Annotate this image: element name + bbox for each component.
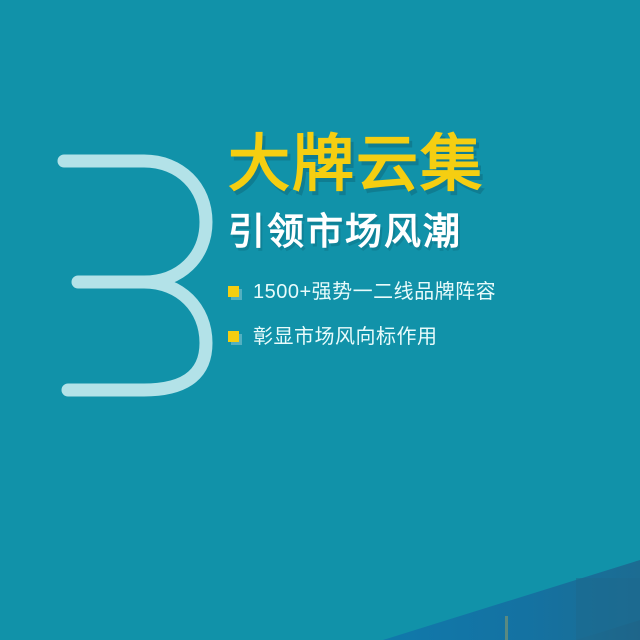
list-item: 1500+强势一二线品牌阵容 <box>228 280 628 304</box>
square-bullet-icon <box>228 331 239 342</box>
numeral-three-glyph <box>48 138 228 408</box>
list-item: 彰显市场风向标作用 <box>228 325 628 349</box>
feature-bullet-list: 1500+强势一二线品牌阵容 彰显市场风向标作用 <box>228 280 628 349</box>
text-column: 大牌云集 引领市场风潮 1500+强势一二线品牌阵容 彰显市场风向标作用 <box>228 132 628 370</box>
square-bullet-icon <box>228 286 239 297</box>
bullet-label: 1500+强势一二线品牌阵容 <box>253 280 496 304</box>
bullet-label: 彰显市场风向标作用 <box>253 325 438 349</box>
headline: 大牌云集 <box>228 132 628 199</box>
promo-poster: 大牌云集 引领市场风潮 1500+强势一二线品牌阵容 彰显市场风向标作用 <box>0 0 640 640</box>
section-number-3 <box>48 138 228 408</box>
subheadline: 引领市场风潮 <box>228 211 628 254</box>
